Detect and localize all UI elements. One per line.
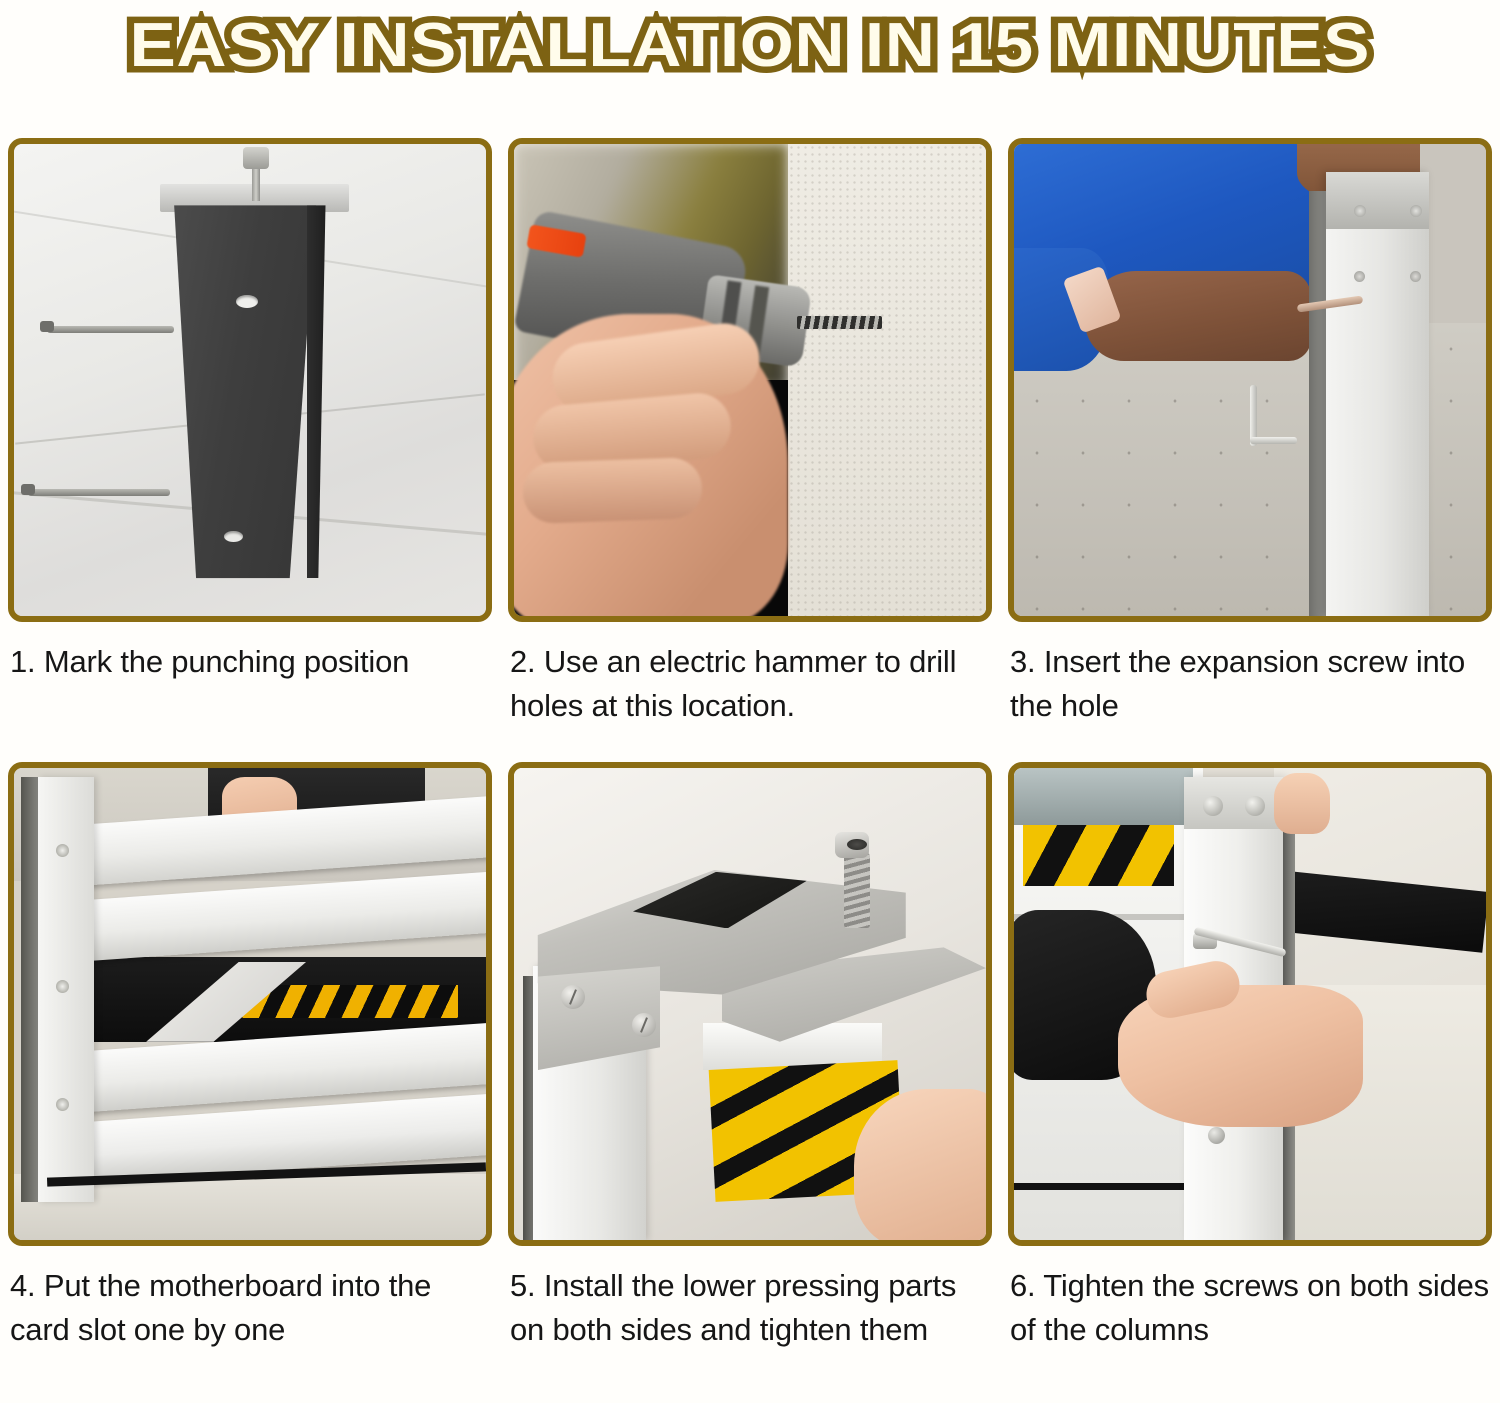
step-6-photo-frame [1008, 762, 1492, 1246]
mounting-pin-lower-tip [21, 484, 35, 495]
step-card-6: 6. Tighten the screws on both sides of t… [1000, 716, 1500, 1403]
column-screw [1208, 1127, 1225, 1144]
allen-key-icon [1250, 437, 1297, 444]
hazard-stripe [1023, 825, 1174, 886]
step-5-photo [514, 768, 986, 1240]
step-1-caption: 1. Mark the punching position [10, 640, 492, 684]
wall-texture [788, 144, 986, 616]
hand [854, 1089, 986, 1240]
step-3-caption: 3. Insert the expansion screw into the h… [1010, 640, 1492, 728]
step-6-caption: 6. Tighten the screws on both sides of t… [1010, 1264, 1492, 1352]
mounting-pin-upper-tip [40, 321, 54, 332]
header-banner: EASY INSTALLATION IN 15 MINUTES [0, 0, 1500, 92]
column-screw [56, 844, 69, 857]
step-card-5: 5. Install the lower pressing parts on b… [500, 716, 1000, 1403]
step-6-photo [1014, 768, 1486, 1240]
step-3-photo-frame [1008, 138, 1492, 622]
step-2-photo-frame [508, 138, 992, 622]
punch-hole-upper [236, 295, 258, 308]
step-5-caption: 5. Install the lower pressing parts on b… [510, 1264, 992, 1352]
column-cap-plate [1184, 777, 1283, 829]
step-card-2: 2. Use an electric hammer to drill holes… [500, 92, 1000, 716]
step-1-photo-frame [8, 138, 492, 622]
barrier-board [74, 871, 486, 962]
step-2-caption: 2. Use an electric hammer to drill holes… [510, 640, 992, 728]
mounting-pin-upper [47, 326, 174, 333]
threaded-bolt-shaft [844, 853, 870, 929]
punch-hole-lower [224, 531, 243, 542]
aluminium-column [1326, 172, 1430, 616]
column-cap-plate [1326, 172, 1430, 229]
bolt-socket [847, 839, 867, 850]
column-base-post [170, 205, 316, 578]
step-card-3: 3. Insert the expansion screw into the h… [1000, 92, 1500, 716]
wall-surface [788, 144, 986, 616]
finger [522, 457, 703, 525]
background-object [1014, 768, 1193, 825]
step-4-photo [14, 768, 486, 1240]
hand [1274, 773, 1331, 834]
column-edge [307, 205, 326, 578]
step-card-1: 1. Mark the punching position [0, 92, 500, 716]
installation-steps-grid: 1. Mark the punching position [0, 92, 1500, 1403]
column-screw [1203, 796, 1223, 816]
step-4-caption: 4. Put the motherboard into the card slo… [10, 1264, 492, 1352]
page-title: EASY INSTALLATION IN 15 MINUTES [130, 15, 1370, 77]
step-5-photo-frame [508, 762, 992, 1246]
step-1-photo [14, 144, 486, 616]
step-4-photo-frame [8, 762, 492, 1246]
board-seam [1014, 1183, 1203, 1190]
mounting-pin-lower [28, 489, 170, 496]
drill-bit [797, 316, 882, 328]
step-2-photo [514, 144, 986, 616]
step-3-photo [1014, 144, 1486, 616]
step-card-4: 4. Put the motherboard into the card slo… [0, 716, 500, 1403]
bolt-head [243, 147, 269, 169]
